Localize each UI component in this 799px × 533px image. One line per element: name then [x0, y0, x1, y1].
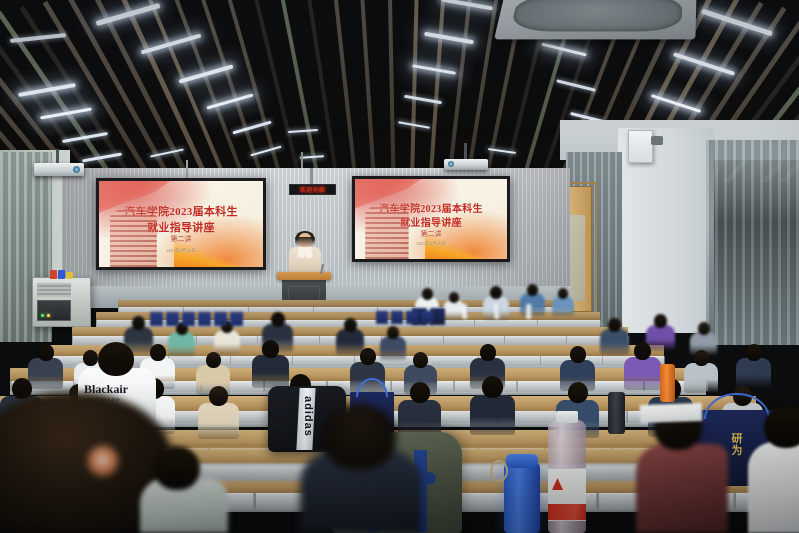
blue-cup	[58, 270, 65, 279]
audience-head	[694, 350, 709, 366]
audience-head	[746, 344, 762, 361]
bottle-label-red-swoosh	[548, 504, 586, 520]
led-sign-text: 欢迎光临	[300, 185, 326, 194]
audience-head	[608, 318, 621, 332]
shirt-torso	[636, 444, 728, 533]
audience-head	[422, 288, 433, 300]
audience-torso	[520, 293, 545, 316]
desk-leg	[733, 493, 736, 509]
bottle-strap-loop	[490, 460, 508, 482]
stacked-blue-crate	[406, 311, 418, 324]
desk-leg	[504, 336, 505, 343]
stacked-blue-crate	[421, 311, 433, 324]
stacked-blue-crate	[182, 312, 195, 326]
audience-member	[470, 376, 515, 438]
audience-head	[410, 382, 430, 403]
audience-torso	[214, 330, 240, 354]
led-sign-mount	[310, 168, 313, 185]
bottle-cap	[506, 454, 538, 468]
audience-member	[552, 288, 574, 319]
desk-leg	[540, 356, 541, 365]
audience-head	[568, 382, 588, 403]
ceiling-light-tube	[412, 64, 456, 75]
slide-subtitle: 第二讲	[99, 234, 263, 244]
wall-speaker	[628, 130, 653, 163]
desk-leg	[72, 336, 73, 343]
audience-head	[413, 352, 428, 368]
slide-date: 2023年6月26日	[355, 241, 507, 247]
stacked-blue-crate	[166, 312, 179, 326]
audience-head	[271, 312, 285, 327]
audience-head	[558, 288, 568, 299]
presenter-speaker	[286, 233, 324, 275]
projector-lens	[448, 161, 454, 167]
ceiling-slat	[330, 0, 366, 182]
audience-head	[480, 344, 496, 361]
audience-head	[654, 314, 667, 328]
audience-head	[570, 346, 586, 363]
desk-leg	[596, 493, 599, 509]
audience-torso	[198, 403, 239, 439]
audience-head	[698, 322, 710, 335]
student-head	[322, 404, 396, 470]
audience-member	[198, 386, 239, 442]
audience-head	[527, 284, 538, 296]
slide-title-line1: 汽车学院2023届本科生	[99, 203, 263, 219]
audience-head	[344, 318, 357, 332]
desk-leg	[516, 381, 518, 391]
student-maroon-shirt	[636, 424, 728, 533]
speaker-mount-bracket	[651, 136, 663, 145]
audience-torso	[552, 296, 574, 316]
audience-torso	[736, 358, 771, 389]
desk-leg	[292, 356, 293, 365]
ceiling-slat	[274, 0, 336, 182]
shirt-torso	[748, 442, 799, 533]
desk-leg	[253, 493, 256, 509]
yellow-cup	[66, 272, 73, 279]
clear-plastic-bottle	[548, 420, 586, 533]
audience-head	[490, 286, 502, 299]
desk-leg	[196, 336, 197, 343]
desk-leg	[390, 381, 392, 391]
av-equipment-rack	[32, 277, 91, 327]
stacked-blue-crate	[230, 312, 243, 326]
audience-head	[449, 292, 459, 303]
curtain-right	[706, 140, 799, 345]
desk-leg	[566, 336, 567, 343]
slide-title-line2: 就业指导讲座	[99, 219, 263, 235]
slide-title-line2: 就业指导讲座	[355, 214, 507, 229]
desk-leg	[230, 356, 231, 365]
rack-vent-slots	[37, 283, 71, 297]
ceiling-slat	[167, 0, 276, 182]
ceiling-slat	[387, 0, 397, 182]
orange-thermos	[660, 364, 675, 402]
projector-lens	[73, 166, 80, 173]
gift-bag-characters: 研 为	[732, 433, 743, 457]
ceiling-slat	[408, 0, 420, 182]
audience-head	[482, 376, 503, 398]
projector-right	[444, 159, 488, 170]
desk-leg	[626, 411, 628, 423]
audience-torso	[470, 395, 515, 435]
rack-equipment-bay	[37, 300, 71, 321]
red-cup	[50, 270, 57, 279]
projector-left	[34, 163, 84, 176]
status-led-green	[41, 314, 44, 317]
presentation-slide: 汽车学院2023届本科生 就业指导讲座 第二讲 2023年6月26日	[355, 179, 507, 259]
projection-screen-right: 汽车学院2023届本科生 就业指导讲座 第二讲 2023年6月26日	[352, 176, 510, 262]
open-notebook	[640, 403, 703, 423]
audience-member	[736, 344, 771, 392]
slide-subtitle: 第二讲	[355, 229, 507, 239]
ac-grille	[510, 0, 683, 31]
projector-mount-rod	[56, 149, 59, 163]
desk-leg	[474, 320, 475, 326]
student-edge-left	[140, 452, 228, 533]
desk-leg	[319, 336, 320, 343]
status-led-amber	[47, 314, 50, 317]
stacked-blue-crate	[376, 311, 388, 324]
ceiling-mic-pole-right	[301, 152, 303, 168]
audience-head	[206, 352, 221, 368]
audience-head	[262, 340, 279, 358]
bottle-cap	[556, 411, 578, 423]
desk-leg	[453, 381, 455, 391]
dark-tumbler	[608, 392, 625, 434]
projection-screen-left: 汽车学院2023届本科生 就业指导讲座 第二讲 2023年6月26日	[96, 178, 266, 270]
stacked-blue-crate	[214, 312, 227, 326]
desk-leg	[443, 336, 444, 343]
student-white-shirt-right	[748, 424, 799, 533]
projector-mount-rod	[464, 143, 467, 159]
led-scrolling-sign: 欢迎光临	[289, 184, 336, 195]
podium-wooden-top	[277, 272, 331, 280]
audience-head	[387, 326, 399, 339]
audience-head	[360, 348, 376, 365]
slide-title-line1: 汽车学院2023届本科生	[355, 200, 507, 215]
front-row-water-bottle	[462, 304, 468, 319]
stacked-blue-crate	[391, 311, 403, 324]
audience-head	[209, 386, 228, 406]
hair-clip-eye	[98, 456, 107, 465]
student-head	[764, 406, 799, 448]
student-head	[154, 446, 200, 490]
ceiling-light-tube	[288, 129, 318, 133]
front-row-water-bottle	[526, 304, 532, 319]
ceiling-light-tube	[701, 9, 773, 37]
audience-member	[520, 284, 545, 319]
ceiling-slat	[358, 0, 381, 182]
slide-date: 2023年6月26日	[99, 248, 263, 254]
stacked-blue-crate	[198, 312, 211, 326]
student-head	[98, 342, 134, 376]
audience-head	[634, 342, 651, 360]
front-row-water-bottle	[494, 304, 500, 319]
stacked-blue-crate	[150, 312, 163, 326]
ceiling-slat	[423, 0, 448, 182]
blue-water-bottle	[504, 462, 540, 533]
presentation-slide: 汽车学院2023届本科生 就业指导讲座 第二讲 2023年6月26日	[99, 181, 263, 267]
student-foreground-center	[300, 404, 422, 533]
desk-leg	[537, 320, 538, 326]
audience-head	[38, 344, 54, 361]
air-conditioner-cassette	[494, 0, 697, 39]
audience-head	[132, 316, 145, 330]
lecture-hall-photo: 汽车学院2023届本科生 就业指导讲座 第二讲 2023年6月26日 汽车学院2…	[0, 0, 799, 533]
desk-leg	[96, 320, 97, 326]
